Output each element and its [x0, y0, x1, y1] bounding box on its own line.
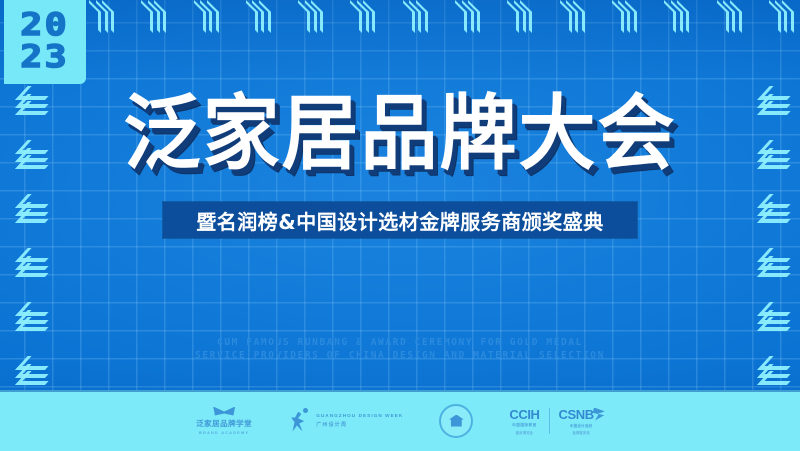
year-badge-line-bottom: 23	[21, 43, 70, 73]
page-title: 泛家居品牌大会	[124, 94, 677, 176]
chevron-right-icon	[193, 8, 219, 34]
chevron-right-icon	[716, 8, 742, 34]
logo-csnb: CSNB 中国设计选材 金牌服务商	[559, 407, 604, 435]
logo-ccih-sub1: 中国国际家居	[512, 423, 537, 428]
chevron-down-icon	[12, 194, 46, 224]
top-chevron-strip	[88, 4, 794, 38]
logo-runbang-academy-sub: BRAND ACADEMY	[199, 431, 249, 435]
chevron-down-icon	[754, 194, 788, 224]
chevron-right-icon	[140, 8, 166, 34]
logo-guangzhou-design-week: GUANGZHOU DESIGN WEEK 广州设计周	[288, 407, 403, 435]
year-badge-line-top: 20	[21, 11, 70, 41]
chevron-right-icon	[88, 8, 114, 34]
wing-mark-icon	[213, 407, 235, 416]
logo-runbang-academy-name: 泛家居品牌学堂	[196, 418, 252, 429]
logo-csnb-sub2: 金牌服务商	[572, 430, 589, 435]
logo-ccih-csnb-pair: CCIH 中国国际家居 建材博览会 CSNB 中国设计选材 金牌服务商	[509, 407, 603, 435]
subtitle-band: 暨名润榜&中国设计选材金牌服务商颁奖盛典	[163, 202, 637, 238]
logo-gzdw-sub: 广州设计周	[316, 421, 403, 428]
chevron-right-icon	[402, 8, 428, 34]
chevron-right-icon	[611, 8, 637, 34]
chevron-right-icon	[297, 8, 323, 34]
chevron-down-icon	[754, 302, 788, 332]
chevron-right-icon	[506, 8, 532, 34]
chevron-right-icon	[349, 8, 375, 34]
logo-gzdw-name: GUANGZHOU DESIGN WEEK	[316, 413, 403, 418]
runner-figure-icon	[288, 407, 310, 435]
year-badge-2023: 20 23	[4, 0, 86, 84]
logo-divider	[549, 408, 550, 434]
arrow-mark-icon	[593, 408, 605, 421]
chevron-right-icon	[245, 8, 271, 34]
logo-csnb-sub1: 中国设计选材	[570, 423, 593, 428]
logo-csnb-name: CSNB	[559, 407, 604, 422]
logo-ccih-name: CCIH	[509, 407, 539, 422]
chevron-right-icon	[559, 8, 585, 34]
logo-csnb-text: CSNB	[559, 407, 594, 422]
poster-canvas: 20 23 泛家居品牌大会	[0, 0, 800, 451]
chevron-down-icon	[754, 248, 788, 278]
subtitle-text: 暨名润榜&中国设计选材金牌服务商颁奖盛典	[196, 206, 603, 235]
english-subtitle-line-2: SERVICE PROVIDERS OF CHINA DESIGN AND MA…	[0, 349, 800, 362]
chevron-down-icon	[12, 302, 46, 332]
chevron-right-icon	[663, 8, 689, 34]
english-subtitle-wrapper: CUM FAMOUS RUNBANG & AWARD CEREMONY FOR …	[0, 336, 800, 362]
logo-ccih-sub2: 建材博览会	[516, 430, 533, 435]
chevron-right-icon	[768, 8, 794, 34]
logo-ccih: CCIH 中国国际家居 建材博览会	[509, 407, 539, 435]
logo-runbang-academy: 泛家居品牌学堂 BRAND ACADEMY	[196, 407, 252, 435]
sponsor-logo-band: 泛家居品牌学堂 BRAND ACADEMY GUANGZHOU DESIGN W…	[0, 390, 800, 451]
english-subtitle-line-1: CUM FAMOUS RUNBANG & AWARD CEREMONY FOR …	[0, 336, 800, 349]
chevron-right-icon	[454, 8, 480, 34]
main-title-wrapper: 泛家居品牌大会	[0, 96, 800, 173]
logo-circular-emblem	[439, 404, 473, 438]
chevron-down-icon	[12, 248, 46, 278]
house-circle-icon	[439, 404, 473, 438]
